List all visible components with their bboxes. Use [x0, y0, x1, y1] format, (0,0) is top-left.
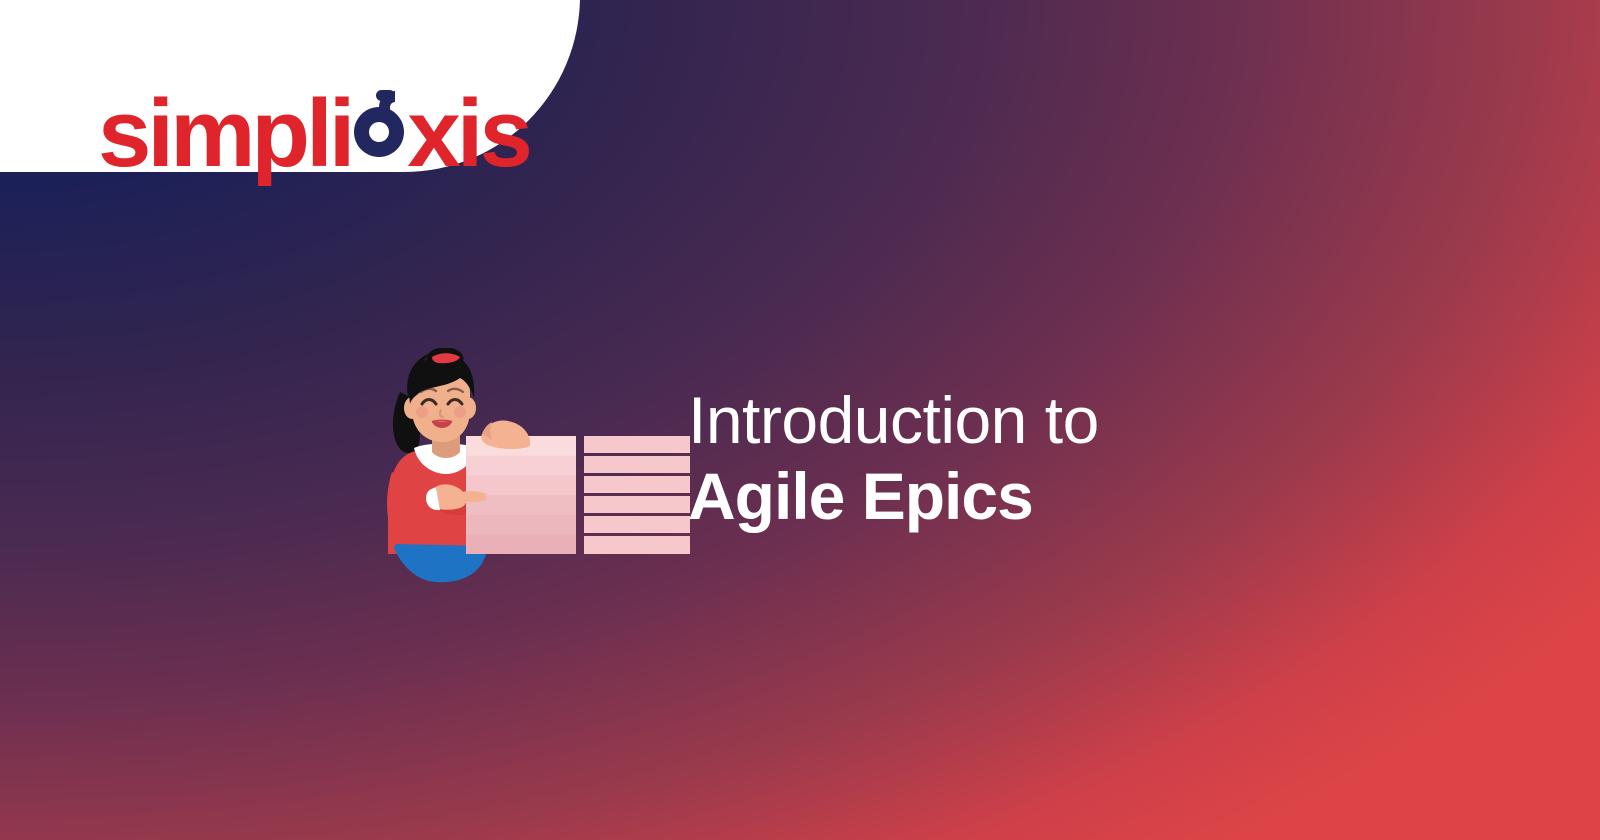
- headline-block: Introduction to Agile Epics: [688, 386, 1508, 538]
- woman-with-cards-icon: [370, 348, 700, 600]
- brand-wordmark: simpli xis: [98, 70, 529, 182]
- banner-canvas: simpli xis: [0, 0, 1600, 840]
- brand-logo[interactable]: simpli xis: [40, 40, 600, 212]
- brand-accent-a-icon: [351, 70, 407, 166]
- headline-line-2: Agile Epics: [688, 456, 1508, 538]
- brand-prefix: simpli: [98, 86, 351, 182]
- headline-line-1: Introduction to: [688, 386, 1508, 456]
- hero-illustration: [370, 348, 700, 600]
- brand-suffix: xis: [407, 86, 528, 182]
- card-stack-right: [584, 436, 690, 554]
- hand-upper: [481, 421, 530, 450]
